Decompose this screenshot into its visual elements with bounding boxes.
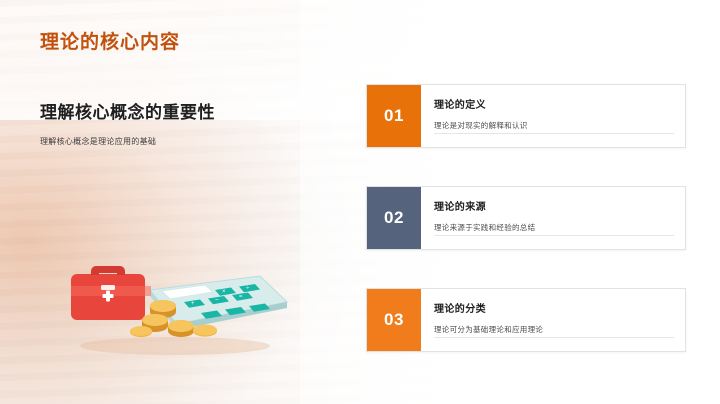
card-number-badge-03: 03 — [367, 289, 421, 351]
card-title-03: 理论的分类 — [434, 300, 675, 315]
card-title-01: 理论的定义 — [434, 96, 675, 111]
card-divider-03 — [434, 337, 674, 338]
content-card-03[interactable]: 03 理论的分类 理论可分为基础理论和应用理论 — [366, 288, 686, 352]
card-number-badge-01: 01 — [367, 85, 421, 147]
card-body-02: 理论的来源 理论来源于实践和经验的总结 — [421, 187, 685, 249]
svg-text:×: × — [222, 289, 226, 295]
content-card-list: 01 理论的定义 理论是对现实的解释和认识 02 理论的来源 理论来源于实践和经… — [366, 84, 686, 390]
left-heading: 理解核心概念的重要性 — [40, 98, 215, 123]
illustration-shadow — [80, 337, 270, 355]
medical-kit-calculator-coins-illustration: × ÷ + − = — [55, 228, 305, 358]
content-card-01[interactable]: 01 理论的定义 理论是对现实的解释和认识 — [366, 84, 686, 148]
card-desc-02: 理论来源于实践和经验的总结 — [434, 222, 675, 233]
page-title: 理论的核心内容 — [40, 27, 180, 54]
svg-text:+: + — [191, 301, 195, 307]
card-number-badge-02: 02 — [367, 187, 421, 249]
card-divider-02 — [434, 235, 674, 236]
svg-text:−: − — [215, 298, 219, 304]
card-desc-01: 理论是对现实的解释和认识 — [434, 120, 675, 131]
card-desc-03: 理论可分为基础理论和应用理论 — [434, 324, 675, 335]
card-title-02: 理论的来源 — [434, 198, 675, 213]
svg-text:=: = — [239, 294, 243, 300]
card-body-03: 理论的分类 理论可分为基础理论和应用理论 — [421, 289, 685, 351]
first-aid-kit-icon — [71, 266, 151, 320]
card-divider-01 — [434, 133, 674, 134]
left-subtext: 理解核心概念是理论应用的基础 — [40, 136, 156, 147]
slide-root: 理论的核心内容 理解核心概念的重要性 理解核心概念是理论应用的基础 — [0, 0, 720, 404]
card-body-01: 理论的定义 理论是对现实的解释和认识 — [421, 85, 685, 147]
content-card-02[interactable]: 02 理论的来源 理论来源于实践和经验的总结 — [366, 186, 686, 250]
